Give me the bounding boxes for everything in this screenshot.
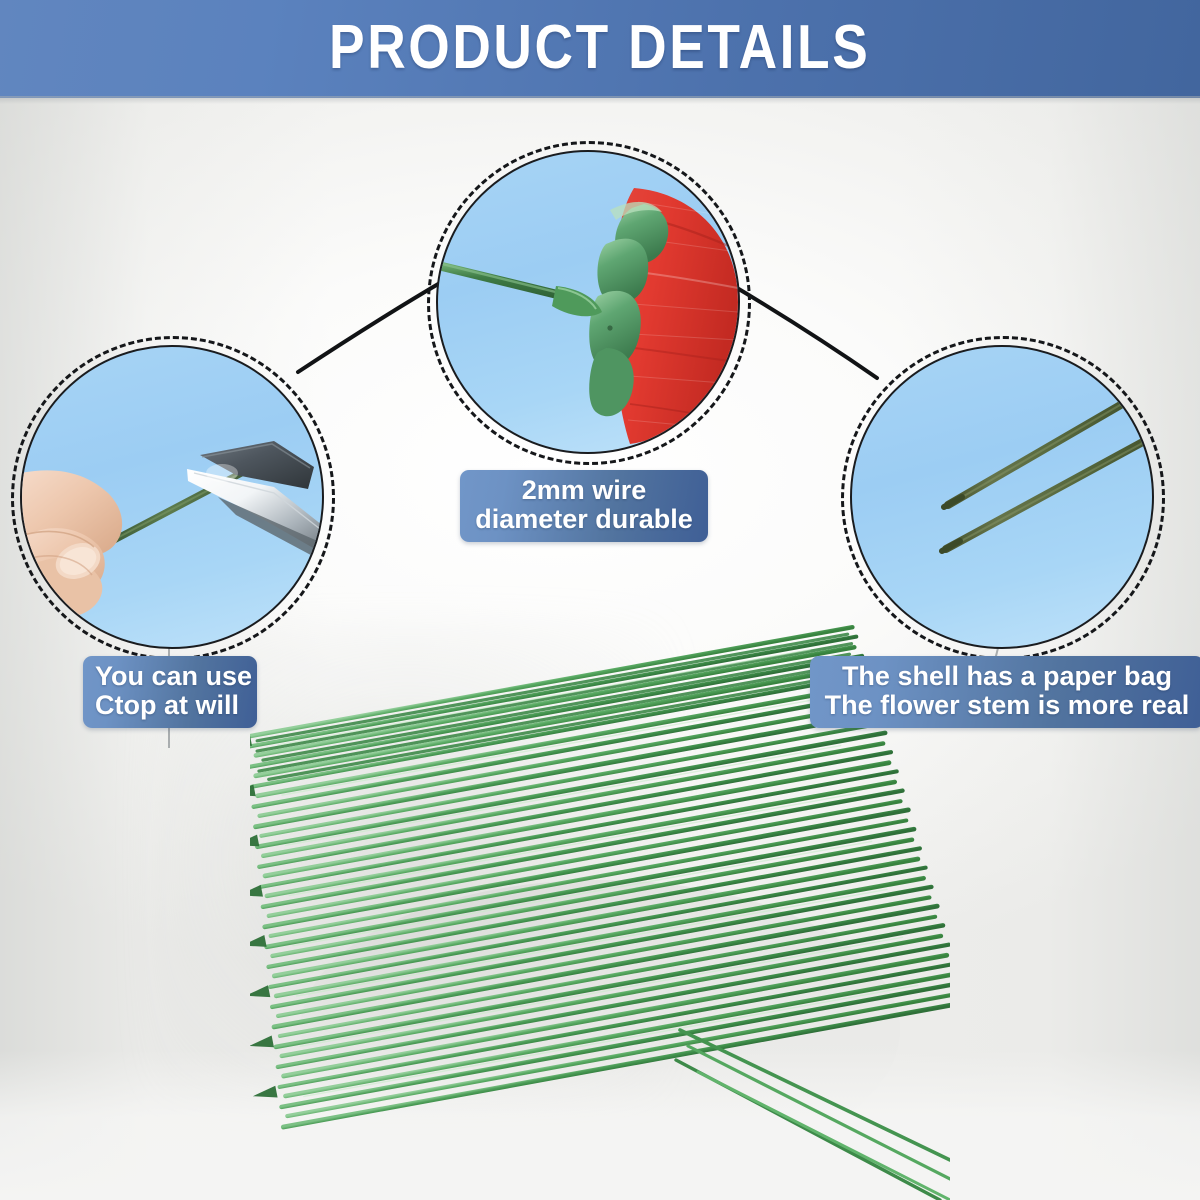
label-cut-to-length[interactable]: You can use Ctop at will <box>83 656 257 728</box>
label-paper-wrapped-shell[interactable]: The shell has a paper bag The flower ste… <box>810 656 1200 728</box>
label-line-1: You can use <box>95 662 245 691</box>
callout-cut-to-length[interactable] <box>20 345 320 645</box>
callout-wire-diameter[interactable] <box>436 150 736 450</box>
background-floor <box>0 1050 1200 1200</box>
label-line-2: diameter durable <box>472 505 696 534</box>
product-details-page: PRODUCT DETAILS <box>0 0 1200 1200</box>
rose-head-and-stem-illustration <box>438 152 738 452</box>
page-title: PRODUCT DETAILS <box>329 17 870 79</box>
scissors-cutting-wire-illustration <box>22 347 322 647</box>
two-wire-stems-illustration <box>852 347 1152 647</box>
label-line-2: The flower stem is more real <box>822 691 1192 720</box>
label-line-1: The shell has a paper bag <box>822 662 1192 691</box>
header-banner: PRODUCT DETAILS <box>0 0 1200 98</box>
banner-bottom-edge <box>0 96 1200 104</box>
callout-paper-wrapped-shell[interactable] <box>850 345 1150 645</box>
callout-disc <box>20 345 324 649</box>
label-wire-diameter[interactable]: 2mm wire diameter durable <box>460 470 708 542</box>
callout-disc <box>436 150 740 454</box>
label-line-1: 2mm wire <box>472 476 696 505</box>
label-line-2: Ctop at will <box>95 691 245 720</box>
callout-disc <box>850 345 1154 649</box>
